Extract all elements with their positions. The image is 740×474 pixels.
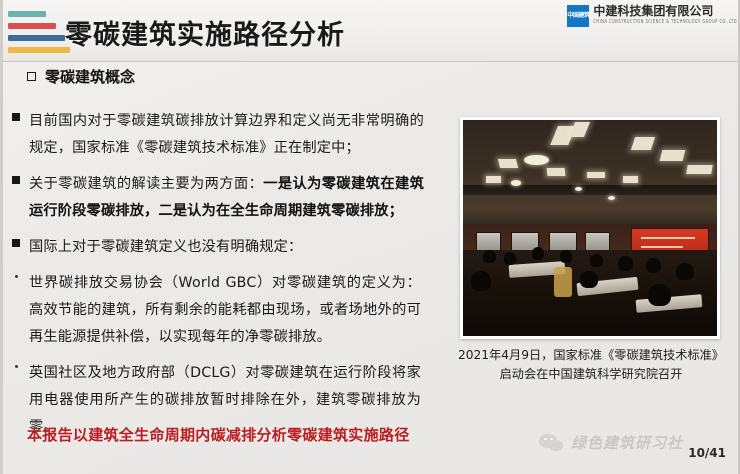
slide-canvas: 零碳建筑实施路径分析 中国建筑 中建科技集团有限公司 CHINA CONSTRU…	[0, 0, 740, 474]
company-logo-mark-text: 中国建筑	[567, 13, 589, 19]
photo-attendee-head	[646, 258, 661, 273]
dot-bullet-icon	[15, 365, 18, 368]
photo-caption-line-2: 启动会在中国建筑科学研究院召开	[455, 365, 727, 384]
photo-attendee-head	[676, 263, 694, 280]
ceiling-light-panel	[546, 168, 565, 176]
company-logo: 中国建筑 中建科技集团有限公司 CHINA CONSTRUCTION SCIEN…	[567, 5, 737, 27]
company-name-en: CHINA CONSTRUCTION SCIENCE & TECHNOLOGY …	[593, 20, 737, 25]
photo-attendee-head	[618, 256, 633, 271]
bullet-text-normal: 关于零碳建筑的解读主要为两方面：	[29, 176, 263, 192]
bullet-item: 国际上对于零碳建筑定义也没有明确规定：	[3, 234, 453, 261]
watermark: 绿色建筑研习社	[539, 432, 683, 453]
photo-attendee-head	[590, 254, 603, 267]
sub-bullet-item: 世界碳排放交易协会（World GBC）对零碳建筑的定义为：高效节能的建筑，所有…	[3, 270, 453, 351]
bullet-marker	[3, 234, 29, 261]
page-number: 10/41	[688, 446, 726, 460]
photo-attendee-head	[483, 250, 496, 263]
sub-bullet-marker	[3, 360, 29, 441]
accent-bar-2	[8, 23, 56, 29]
conclusion-statement: 本报告以建筑全生命周期内碳减排分析零碳建筑实施路径	[27, 424, 410, 445]
ceiling-light-round	[608, 196, 616, 200]
sub-bullet-text: 世界碳排放交易协会（World GBC）对零碳建筑的定义为：高效节能的建筑，所有…	[29, 270, 421, 351]
photo-attendee-head	[560, 250, 573, 263]
bullet-marker	[3, 171, 29, 225]
conference-photo-frame	[460, 117, 720, 339]
sub-bullet-marker	[3, 270, 29, 351]
photo-ceiling-beam	[463, 185, 717, 195]
ceiling-light-panel	[497, 159, 517, 168]
open-square-bullet-icon	[27, 72, 36, 81]
bullet-marker	[3, 108, 29, 162]
accent-bar-4	[8, 47, 70, 53]
section-heading: 零碳建筑概念	[27, 66, 135, 87]
bullet-item: 关于零碳建筑的解读主要为两方面：一是认为零碳建筑在建筑运行阶段零碳排放，二是认为…	[3, 171, 453, 225]
ceiling-light-panel	[623, 176, 638, 182]
solid-square-bullet-icon	[12, 176, 20, 184]
conference-photo	[463, 120, 717, 336]
photo-attendee-head	[580, 271, 598, 288]
photo-attendee-head	[648, 284, 671, 306]
solid-square-bullet-icon	[12, 113, 20, 121]
company-logo-mark-icon: 中国建筑	[567, 5, 589, 27]
section-heading-label: 零碳建筑概念	[45, 66, 135, 87]
company-name-cn: 中建科技集团有限公司	[593, 5, 737, 17]
ceiling-light-panel	[660, 150, 686, 161]
bullet-item: 目前国内对于零碳建筑碳排放计算边界和定义尚无非常明确的规定，国家标准《零碳建筑技…	[3, 108, 453, 162]
solid-square-bullet-icon	[12, 239, 20, 247]
sub-bullet-text-normal: 世界碳排放交易协会（World GBC）对零碳建筑的定义为：高效节能的建筑，所有…	[29, 275, 421, 345]
bullet-text: 目前国内对于零碳建筑碳排放计算边界和定义尚无非常明确的规定，国家标准《零碳建筑技…	[29, 108, 424, 162]
wechat-bubbles-icon	[539, 433, 565, 453]
photo-attendee-head	[532, 247, 545, 260]
content-bullet-list: 目前国内对于零碳建筑碳排放计算边界和定义尚无非常明确的规定，国家标准《零碳建筑技…	[3, 108, 453, 450]
bullet-text: 国际上对于零碳建筑定义也没有明确规定：	[29, 234, 424, 261]
photo-attendee-highlight	[554, 267, 572, 297]
bullet-text-normal: 国际上对于零碳建筑定义也没有明确规定：	[29, 239, 302, 255]
accent-bars-graphic	[8, 9, 70, 57]
ceiling-light-panel	[686, 165, 713, 174]
accent-bar-1	[8, 11, 46, 17]
accent-bar-3	[8, 35, 65, 41]
company-name-block: 中建科技集团有限公司 CHINA CONSTRUCTION SCIENCE & …	[593, 5, 737, 24]
slide-header: 零碳建筑实施路径分析 中国建筑 中建科技集团有限公司 CHINA CONSTRU…	[3, 0, 740, 62]
dot-bullet-icon	[15, 275, 18, 278]
slide-title: 零碳建筑实施路径分析	[65, 13, 345, 52]
photo-attendee-head	[471, 271, 491, 290]
ceiling-light-panel	[486, 176, 501, 182]
photo-caption: 2021年4月9日，国家标准《零碳建筑技术标准》 启动会在中国建筑科学研究院召开	[455, 346, 727, 384]
ceiling-light-panel	[587, 172, 605, 178]
photo-attendee-head	[504, 252, 517, 265]
watermark-label: 绿色建筑研习社	[571, 432, 683, 453]
photo-caption-line-1: 2021年4月9日，国家标准《零碳建筑技术标准》	[455, 346, 727, 365]
bullet-text: 关于零碳建筑的解读主要为两方面：一是认为零碳建筑在建筑运行阶段零碳排放，二是认为…	[29, 171, 424, 225]
bullet-text-normal: 目前国内对于零碳建筑碳排放计算边界和定义尚无非常明确的规定，国家标准《零碳建筑技…	[29, 113, 424, 156]
